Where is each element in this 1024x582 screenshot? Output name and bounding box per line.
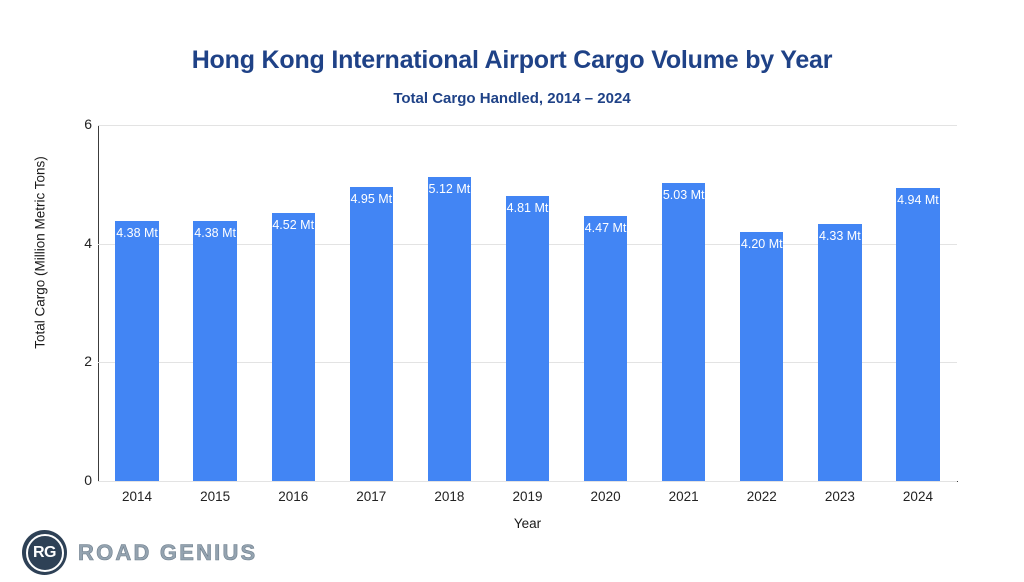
x-tick-label: 2017 — [332, 489, 410, 504]
bar-2024[interactable]: 4.94 Mt — [896, 188, 939, 481]
bar-rect[interactable] — [350, 187, 393, 481]
bar-2017[interactable]: 4.95 Mt — [350, 187, 393, 481]
logo-initials: RG — [33, 544, 56, 562]
x-tick-label: 2016 — [254, 489, 332, 504]
bar-2022[interactable]: 4.20 Mt — [740, 232, 783, 481]
bar-rect[interactable] — [115, 221, 158, 481]
bar-value-label: 4.94 Mt — [896, 193, 939, 207]
bar-rect[interactable] — [272, 213, 315, 481]
bar-2014[interactable]: 4.38 Mt — [115, 221, 158, 481]
x-tick-label: 2018 — [410, 489, 488, 504]
bar-value-label: 5.03 Mt — [662, 188, 705, 202]
x-tick-label: 2022 — [723, 489, 801, 504]
x-tick-label: 2019 — [488, 489, 566, 504]
chart-page: Hong Kong International Airport Cargo Vo… — [0, 0, 1024, 582]
bar-rect[interactable] — [818, 224, 861, 481]
x-tick-label: 2021 — [645, 489, 723, 504]
gridline — [98, 481, 957, 482]
bar-value-label: 4.47 Mt — [584, 221, 627, 235]
bar-2018[interactable]: 5.12 Mt — [428, 177, 471, 481]
x-tick-label: 2014 — [98, 489, 176, 504]
bar-rect[interactable] — [662, 183, 705, 481]
bar-rect[interactable] — [428, 177, 471, 481]
bar-2019[interactable]: 4.81 Mt — [506, 196, 549, 481]
y-tick-label: 0 — [52, 473, 92, 487]
x-tick-label: 2024 — [879, 489, 957, 504]
bar-value-label: 4.52 Mt — [272, 218, 315, 232]
gridline — [98, 125, 957, 126]
bar-rect[interactable] — [506, 196, 549, 481]
bar-2015[interactable]: 4.38 Mt — [193, 221, 236, 481]
bar-rect[interactable] — [740, 232, 783, 481]
bar-value-label: 4.20 Mt — [740, 237, 783, 251]
bar-value-label: 5.12 Mt — [428, 182, 471, 196]
bar-value-label: 4.38 Mt — [193, 226, 236, 240]
bar-rect[interactable] — [584, 216, 627, 481]
bar-2023[interactable]: 4.33 Mt — [818, 224, 861, 481]
bar-rect[interactable] — [193, 221, 236, 481]
chart-subtitle: Total Cargo Handled, 2014 – 2024 — [0, 90, 1024, 107]
bar-value-label: 4.38 Mt — [115, 226, 158, 240]
bar-2016[interactable]: 4.52 Mt — [272, 213, 315, 481]
bar-2020[interactable]: 4.47 Mt — [584, 216, 627, 481]
y-axis-tick-labels: 0246 — [40, 0, 92, 582]
brand-logo: RG ROAD GENIUS — [22, 530, 257, 575]
logo-badge-icon: RG — [22, 530, 67, 575]
x-tick-label: 2023 — [801, 489, 879, 504]
logo-wordmark: ROAD GENIUS — [78, 540, 257, 566]
x-tick-label: 2020 — [567, 489, 645, 504]
chart-title: Hong Kong International Airport Cargo Vo… — [0, 46, 1024, 75]
x-axis-title: Year — [98, 516, 957, 531]
bar-rect[interactable] — [896, 188, 939, 481]
bar-value-label: 4.95 Mt — [350, 192, 393, 206]
bar-2021[interactable]: 5.03 Mt — [662, 183, 705, 481]
y-tick-label: 2 — [52, 354, 92, 368]
y-tick-label: 6 — [52, 117, 92, 131]
bar-value-label: 4.81 Mt — [506, 201, 549, 215]
y-tick-label: 4 — [52, 236, 92, 250]
bar-value-label: 4.33 Mt — [818, 229, 861, 243]
y-axis-title: Total Cargo (Million Metric Tons) — [33, 63, 48, 443]
plot-area: 4.38 Mt4.38 Mt4.52 Mt4.95 Mt5.12 Mt4.81 … — [98, 125, 957, 481]
x-tick-label: 2015 — [176, 489, 254, 504]
